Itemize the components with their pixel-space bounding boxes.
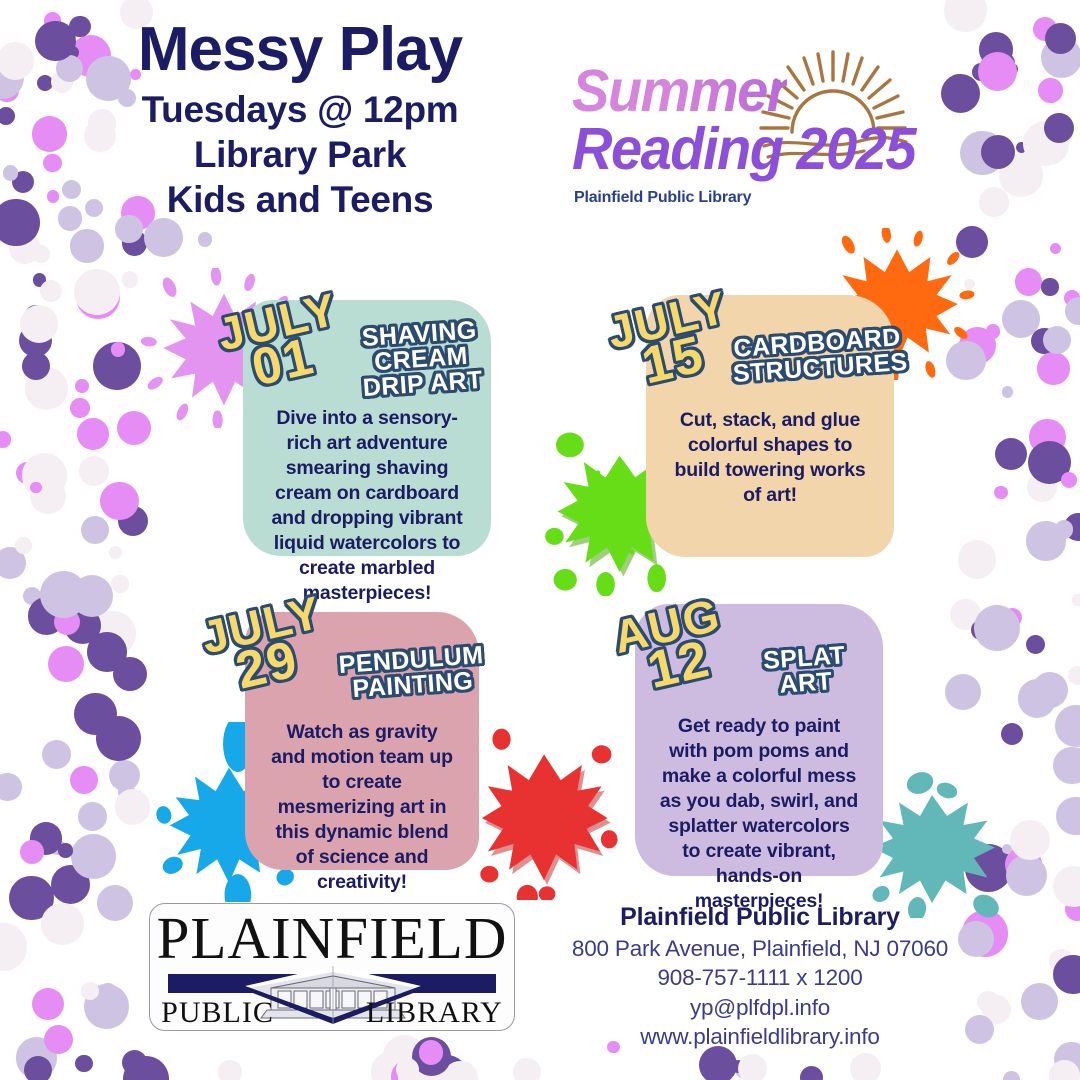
confetti-dot: [49, 839, 65, 855]
confetti-dot: [100, 482, 138, 520]
confetti-dot: [90, 611, 135, 656]
confetti-dot: [995, 53, 1016, 74]
summer-reading-logo: Summer Reading 2025 Plainfield Public Li…: [570, 58, 915, 233]
logo-wordmark-public-library: PUBLICLIBRARY: [150, 996, 514, 1030]
confetti-dot: [982, 188, 1007, 213]
confetti-dot: [9, 232, 42, 265]
confetti-dot: [945, 674, 982, 711]
confetti-dot: [1027, 472, 1056, 501]
confetti-dot: [1053, 866, 1080, 907]
card-title: PENDULUM PAINTING: [327, 642, 496, 703]
confetti-dot: [1029, 419, 1066, 456]
confetti-dot: [70, 398, 90, 418]
summer-reading-sublabel: Plainfield Public Library: [574, 189, 751, 207]
confetti-dot: [950, 599, 981, 630]
summer-reading-word-reading: Reading 2025: [572, 114, 915, 183]
confetti-dot: [1023, 121, 1069, 167]
confetti-dot: [396, 1058, 419, 1080]
confetti-dot: [982, 995, 1012, 1025]
confetti-dot: [371, 1052, 410, 1080]
confetti-dot: [960, 131, 1004, 175]
confetti-dot: [109, 546, 122, 559]
confetti-dot: [986, 324, 1001, 339]
confetti-dot: [58, 843, 72, 857]
confetti-dot: [1016, 142, 1027, 153]
confetti-dot: [51, 865, 90, 904]
confetti-dot: [0, 431, 11, 447]
confetti-dot: [1061, 472, 1077, 488]
flyer-canvas: Messy Play Tuesdays @ 12pm Library Park …: [0, 0, 1080, 1080]
confetti-dot: [96, 716, 141, 761]
confetti-dot: [71, 575, 113, 617]
contact-email[interactable]: yp@plfdpl.info: [545, 993, 975, 1022]
card-description: Watch as gravity and motion team up to c…: [245, 720, 479, 895]
confetti-dot: [994, 486, 1007, 499]
confetti-dot: [1002, 300, 1040, 338]
header-line-time: Tuesdays @ 12pm: [0, 87, 600, 132]
confetti-dot: [54, 609, 80, 635]
confetti-dot: [1050, 243, 1061, 254]
confetti-dot: [412, 1037, 451, 1076]
confetti-dot: [732, 1060, 744, 1072]
confetti-dot: [443, 1061, 478, 1080]
confetti-dot: [123, 1056, 169, 1080]
confetti-dot: [944, 0, 987, 32]
confetti-dot: [102, 356, 133, 387]
confetti-dot: [1044, 113, 1074, 143]
confetti-dot: [81, 516, 109, 544]
confetti-dot: [426, 1055, 468, 1080]
confetti-dot: [22, 453, 67, 498]
confetti-dot: [1048, 453, 1059, 464]
confetti-dot: [113, 657, 147, 691]
confetti-dot: [1002, 386, 1014, 398]
confetti-dot: [70, 229, 103, 262]
confetti-dot: [1053, 955, 1080, 994]
confetti-dot: [198, 232, 212, 246]
confetti-dot: [42, 740, 71, 769]
confetti-dot: [1041, 37, 1080, 78]
confetti-dot: [84, 984, 129, 1029]
confetti-dot: [87, 632, 126, 671]
header-block: Messy Play Tuesdays @ 12pm Library Park …: [0, 18, 600, 223]
confetti-dot: [977, 991, 998, 1012]
confetti-dot: [738, 1054, 767, 1080]
confetti-dot: [122, 271, 138, 287]
confetti-dot: [79, 232, 94, 247]
confetti-dot: [1003, 608, 1022, 627]
confetti-dot: [33, 273, 47, 287]
confetti-dot: [19, 324, 52, 357]
logo-word-library: LIBRARY: [366, 996, 503, 1029]
confetti-dot: [32, 245, 50, 263]
confetti-dot: [0, 923, 27, 970]
header-line-place: Library Park: [0, 132, 600, 177]
confetti-dot: [1045, 23, 1076, 54]
confetti-dot: [1026, 635, 1045, 654]
confetti-dot: [1068, 666, 1080, 685]
confetti-dot: [958, 540, 996, 578]
confetti-dot: [77, 418, 109, 450]
confetti-dot: [1072, 594, 1080, 605]
confetti-dot: [40, 280, 62, 302]
confetti-dot: [1053, 747, 1080, 785]
confetti-dot: [24, 1056, 52, 1080]
confetti-dot: [1032, 672, 1068, 708]
confetti-dot: [79, 456, 110, 487]
confetti-dot: [978, 52, 1017, 91]
confetti-dot: [32, 389, 48, 405]
confetti-dot: [97, 885, 133, 921]
confetti-dot: [48, 646, 84, 682]
confetti-dot: [111, 575, 129, 593]
confetti-dot: [850, 1053, 881, 1080]
confetti-dot: [1054, 1042, 1080, 1077]
confetti-dot: [965, 560, 982, 577]
logo-wordmark-plainfield: PLAINFIELD: [150, 908, 514, 970]
confetti-dot: [20, 305, 58, 343]
confetti-dot: [118, 506, 148, 536]
confetti-dot: [941, 74, 980, 113]
confetti-dot: [383, 1035, 426, 1078]
confetti-dot: [218, 1060, 242, 1080]
confetti-dot: [22, 352, 50, 380]
confetti-dot: [41, 903, 84, 946]
confetti-dot: [20, 840, 44, 864]
card-title: CARDBOARD STRUCTURES: [730, 325, 905, 386]
confetti-dot: [391, 1060, 424, 1080]
confetti-dot: [30, 822, 63, 855]
page-title: Messy Play: [0, 18, 600, 81]
confetti-dot: [116, 496, 135, 515]
contact-address: 800 Park Avenue, Plainfield, NJ 07060: [545, 934, 975, 963]
confetti-dot: [1056, 797, 1080, 836]
confetti-dot: [23, 587, 41, 605]
confetti-dot: [78, 802, 107, 831]
confetti-dot: [1049, 949, 1074, 974]
confetti-dot: [9, 876, 53, 920]
confetti-dot: [979, 187, 1009, 217]
confetti-dot: [74, 269, 120, 315]
confetti-dot: [75, 1055, 93, 1073]
contact-block: Plainfield Public Library 800 Park Avenu…: [545, 903, 975, 1051]
confetti-dot: [1041, 278, 1058, 295]
library-logo[interactable]: PLAINFIELD PUBLICLIBRARY: [149, 903, 515, 1031]
contact-website[interactable]: www.plainfieldlibrary.info: [545, 1022, 975, 1051]
confetti-dot: [71, 834, 116, 879]
confetti-dot: [1003, 1071, 1020, 1080]
confetti-dot: [1065, 297, 1080, 325]
confetti-dot: [1065, 897, 1080, 921]
confetti-dot: [1001, 723, 1023, 745]
card-description: Get ready to paint with pom poms and mak…: [635, 714, 883, 914]
confetti-dot: [422, 1063, 434, 1075]
confetti-dot: [513, 1058, 541, 1080]
confetti-dot: [64, 607, 101, 644]
confetti-dot: [0, 773, 22, 801]
confetti-dot: [1036, 544, 1047, 555]
card-title: SHAVING CREAM DRIP ART: [345, 317, 498, 401]
confetti-dot: [972, 63, 990, 81]
confetti-dot: [118, 783, 136, 801]
confetti-dot: [947, 74, 970, 97]
contact-phone[interactable]: 908-757-1111 x 1200: [545, 963, 975, 992]
confetti-dot: [28, 597, 66, 635]
confetti-dot: [109, 760, 140, 791]
confetti-dot: [1068, 797, 1080, 814]
confetti-dot: [999, 153, 1043, 197]
confetti-dot: [1064, 513, 1080, 541]
confetti-dot: [24, 305, 48, 329]
confetti-dot: [971, 620, 991, 640]
confetti-dot: [1015, 268, 1042, 295]
contact-library-name: Plainfield Public Library: [545, 903, 975, 932]
confetti-dot: [1037, 352, 1069, 384]
confetti-dot: [800, 1066, 823, 1080]
confetti-dot: [16, 462, 38, 484]
confetti-dot: [74, 693, 117, 736]
card-description: Cut, stack, and glue colorful shapes to …: [646, 408, 894, 508]
confetti-dot: [1043, 326, 1071, 354]
confetti-dot: [15, 537, 32, 554]
confetti-dot: [1028, 441, 1071, 484]
confetti-dot: [40, 571, 87, 618]
logo-word-public: PUBLIC: [161, 996, 274, 1029]
confetti-dot: [995, 438, 1027, 470]
confetti-dot: [974, 605, 1020, 651]
confetti-dot: [99, 983, 118, 1002]
confetti-dot: [122, 230, 148, 256]
confetti-dot: [1031, 328, 1057, 354]
confetti-dot: [115, 789, 151, 825]
confetti-dot: [1018, 679, 1057, 718]
confetti-dot: [32, 988, 64, 1020]
confetti-dot: [101, 368, 112, 379]
confetti-dot: [101, 356, 130, 385]
confetti-dot: [1049, 1060, 1080, 1080]
confetti-dot: [144, 218, 183, 257]
confetti-dot: [81, 982, 99, 1000]
confetti-dot: [1006, 63, 1018, 75]
confetti-dot: [1033, 17, 1057, 41]
card-description: Dive into a sensory-rich art adventure s…: [243, 406, 491, 606]
confetti-dot: [105, 652, 120, 667]
confetti-dot: [1055, 705, 1080, 747]
confetti-dot: [75, 379, 89, 393]
confetti-dot: [1026, 521, 1065, 560]
confetti-dot: [25, 367, 68, 410]
confetti-dot: [1021, 983, 1058, 1020]
header-line-audience: Kids and Teens: [0, 177, 600, 222]
confetti-dot: [91, 989, 127, 1025]
confetti-dot: [111, 342, 126, 357]
card-title: SPLAT ART: [745, 642, 864, 699]
confetti-dot: [979, 32, 1014, 67]
confetti-dot: [96, 985, 110, 999]
confetti-dot: [30, 482, 41, 493]
confetti-dot: [70, 766, 98, 794]
confetti-dot: [1038, 78, 1062, 102]
confetti-dot: [419, 1040, 444, 1065]
confetti-dot: [44, 1025, 74, 1055]
confetti-dot: [968, 544, 985, 561]
confetti-dot: [0, 547, 26, 579]
confetti-dot: [122, 1050, 148, 1076]
confetti-dot: [376, 1060, 413, 1080]
confetti-dot: [30, 478, 66, 514]
confetti-dot: [1055, 520, 1073, 538]
splat-red: [466, 718, 622, 900]
confetti-dot: [1027, 835, 1038, 846]
confetti-dot: [981, 135, 1015, 169]
confetti-dot: [735, 1062, 752, 1079]
confetti-dot: [16, 1037, 57, 1078]
confetti-dot: [93, 342, 141, 390]
confetti-dot: [1064, 290, 1080, 306]
confetti-dot: [76, 275, 120, 319]
confetti-dot: [398, 1055, 445, 1080]
